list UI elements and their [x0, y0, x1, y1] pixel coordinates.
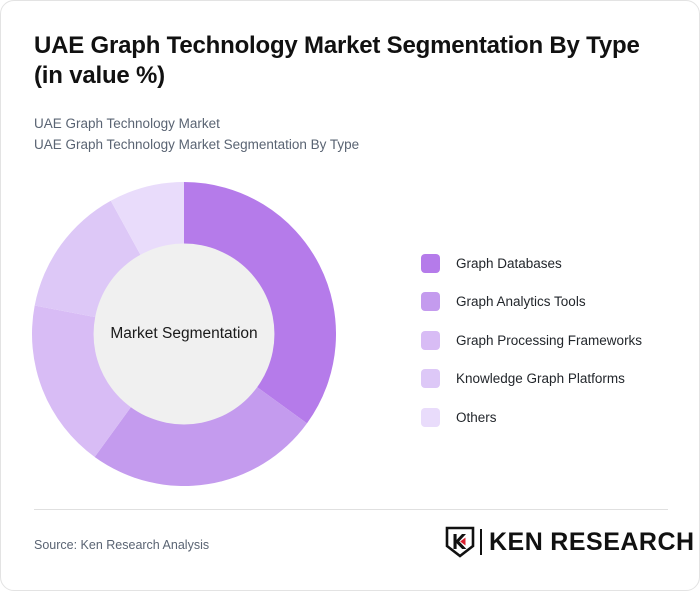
legend-label: Graph Analytics Tools [456, 294, 586, 309]
legend-item[interactable]: Others [421, 398, 683, 437]
source-note: Source: Ken Research Analysis [34, 538, 209, 552]
logo-word-ken: KEN [489, 528, 543, 557]
logo-word-research: RESEARCH [550, 528, 694, 557]
subtitle-line-1: UAE Graph Technology Market [34, 114, 534, 135]
footer-divider [34, 509, 668, 510]
legend-item[interactable]: Graph Processing Frameworks [421, 321, 683, 360]
donut-chart-svg [32, 182, 336, 486]
page-title: UAE Graph Technology Market Segmentation… [34, 31, 674, 92]
legend-item[interactable]: Graph Analytics Tools [421, 283, 683, 322]
legend-label: Graph Databases [456, 256, 562, 271]
logo-divider [480, 529, 482, 555]
chart-card: UAE Graph Technology Market Segmentation… [0, 0, 700, 591]
legend-item[interactable]: Knowledge Graph Platforms [421, 360, 683, 399]
donut-hole [94, 244, 275, 425]
chart-legend: Graph DatabasesGraph Analytics ToolsGrap… [421, 244, 683, 437]
donut-chart: Market Segmentation [32, 182, 336, 486]
legend-swatch-icon [421, 331, 440, 350]
legend-label: Knowledge Graph Platforms [456, 371, 625, 386]
legend-item[interactable]: Graph Databases [421, 244, 683, 283]
legend-swatch-icon [421, 408, 440, 427]
legend-swatch-icon [421, 369, 440, 388]
chart-subtitle: UAE Graph Technology Market UAE Graph Te… [34, 114, 534, 155]
legend-swatch-icon [421, 292, 440, 311]
legend-label: Others [456, 410, 497, 425]
ken-research-shield-k-icon [445, 526, 475, 558]
legend-swatch-icon [421, 254, 440, 273]
subtitle-line-2: UAE Graph Technology Market Segmentation… [34, 135, 534, 156]
logo-wordmark: KEN RESEARCH [489, 528, 695, 557]
legend-label: Graph Processing Frameworks [456, 333, 642, 348]
ken-research-logo: KEN RESEARCH [445, 525, 695, 559]
